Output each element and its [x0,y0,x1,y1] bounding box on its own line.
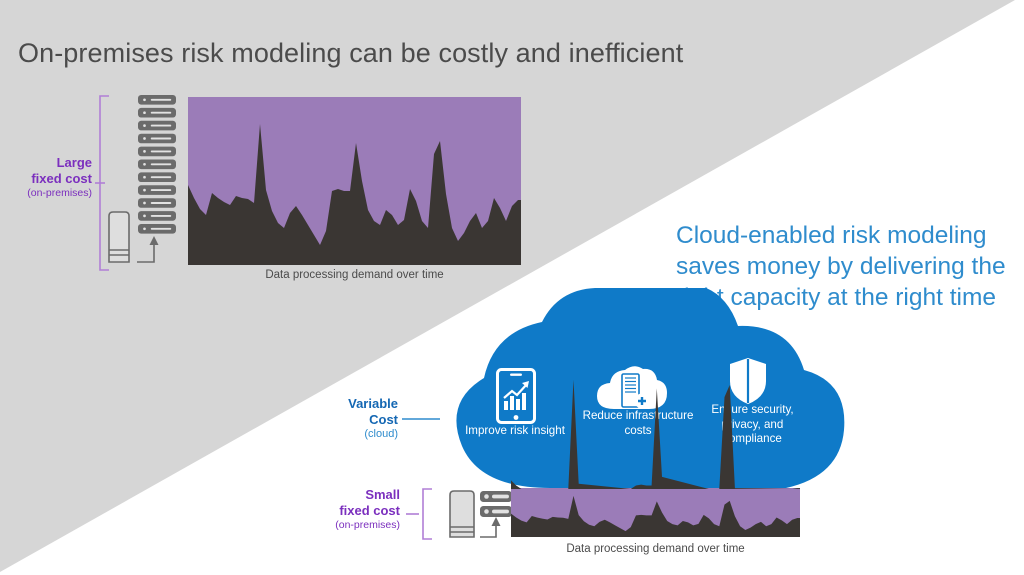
onprem-hardware-stack-small [444,487,514,543]
label-large-fixed-cost-line2: fixed cost [0,171,92,187]
bracket-small-fixed-cost [406,487,440,543]
pc-tower-icon [450,491,474,537]
page-title: On-premises risk modeling can be costly … [18,38,683,69]
label-variable-cost-line1: Variable [288,396,398,412]
server-unit-group [138,95,176,234]
chart-bottom-demand [511,488,800,537]
slide-canvas: On-premises risk modeling can be costly … [0,0,1024,575]
label-small-fixed-cost: Small fixed cost (on-premises) [290,487,400,533]
uplink-arrow-icon [137,236,159,262]
uplink-arrow-icon [480,517,501,537]
onprem-hardware-stack-large [104,92,184,272]
server-unit-group [480,491,512,517]
leader-line-variable-cost [402,415,442,423]
label-variable-cost: Variable Cost (cloud) [288,396,398,442]
label-small-fixed-cost-line1: Small [290,487,400,503]
label-variable-cost-sub: (cloud) [288,427,398,442]
pc-tower-icon [109,212,129,262]
label-variable-cost-line2: Cost [288,412,398,428]
caption-bottom-chart: Data processing demand over time [511,543,800,555]
label-small-fixed-cost-sub: (on-premises) [290,518,400,533]
caption-top-chart: Data processing demand over time [188,269,521,281]
label-large-fixed-cost-line1: Large [0,155,92,171]
label-large-fixed-cost-sub: (on-premises) [0,186,92,201]
label-large-fixed-cost: Large fixed cost (on-premises) [0,155,92,201]
chart-top-demand [188,97,521,265]
label-small-fixed-cost-line2: fixed cost [290,503,400,519]
bottom-chart-spikes-overlay [511,378,800,489]
